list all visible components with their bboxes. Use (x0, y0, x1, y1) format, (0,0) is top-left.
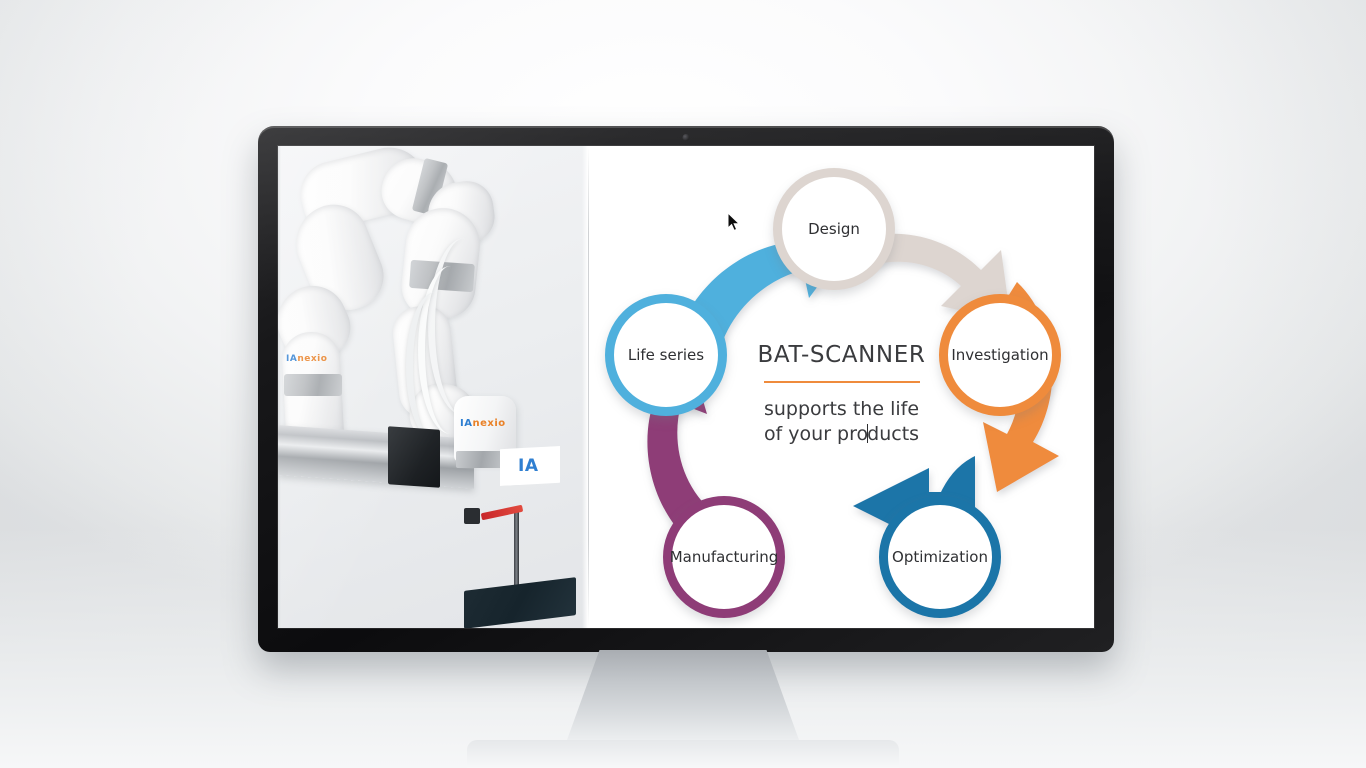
rail-carriage (388, 426, 440, 488)
lifecycle-diagram: Design Investigation Optimization Manufa… (589, 146, 1094, 628)
robot-joint-band-3 (284, 374, 342, 396)
tool-logo-mark: IA (460, 418, 472, 429)
tagline: supports the life of your products (722, 397, 962, 447)
desktop-monitor: IAnexio IAnexio IA (258, 126, 1114, 652)
brand-title: BAT-SCANNER (722, 342, 962, 368)
cycle-node-lifeseries[interactable]: Life series (605, 294, 727, 416)
brand-underline (764, 381, 920, 383)
photo-edge-left (278, 146, 281, 628)
arm-logo-mark: IA (286, 354, 297, 364)
tool-logo-word: nexio (472, 418, 505, 429)
tool-logo: IAnexio (460, 418, 506, 429)
tagline-line-2: of your products (722, 422, 962, 447)
cycle-node-investigation-label: Investigation (951, 348, 1048, 363)
cycle-node-optimization[interactable]: Optimization (879, 496, 1001, 618)
robot-photo: IAnexio IAnexio IA (278, 146, 588, 628)
monitor-stand-neck (567, 650, 799, 740)
probe-clip-dark (464, 508, 480, 524)
cycle-node-optimization-label: Optimization (892, 550, 988, 565)
tagline-line-1: supports the life (722, 397, 962, 422)
cycle-node-lifeseries-label: Life series (628, 348, 704, 363)
webcam-icon (683, 134, 690, 141)
flag-logo-mark: IA (518, 456, 538, 476)
cycle-node-manufacturing[interactable]: Manufacturing (663, 496, 785, 618)
arm-logo-text: IAnexio (286, 354, 327, 364)
circuit-board (464, 577, 576, 628)
cycle-node-design-label: Design (808, 222, 860, 237)
tagline-line-2-before: of your pro (764, 423, 868, 445)
cycle-node-manufacturing-label: Manufacturing (670, 550, 779, 565)
tagline-line-2-after: ducts (867, 423, 919, 445)
center-text-block: BAT-SCANNER supports the life of your pr… (722, 342, 962, 447)
arm-logo-word: nexio (297, 354, 327, 364)
scene-backdrop: IAnexio IAnexio IA (0, 0, 1366, 768)
monitor-stand-base (467, 740, 899, 768)
cycle-node-design[interactable]: Design (773, 168, 895, 290)
monitor-screen[interactable]: IAnexio IAnexio IA (278, 146, 1094, 628)
measurement-probe (514, 508, 519, 586)
